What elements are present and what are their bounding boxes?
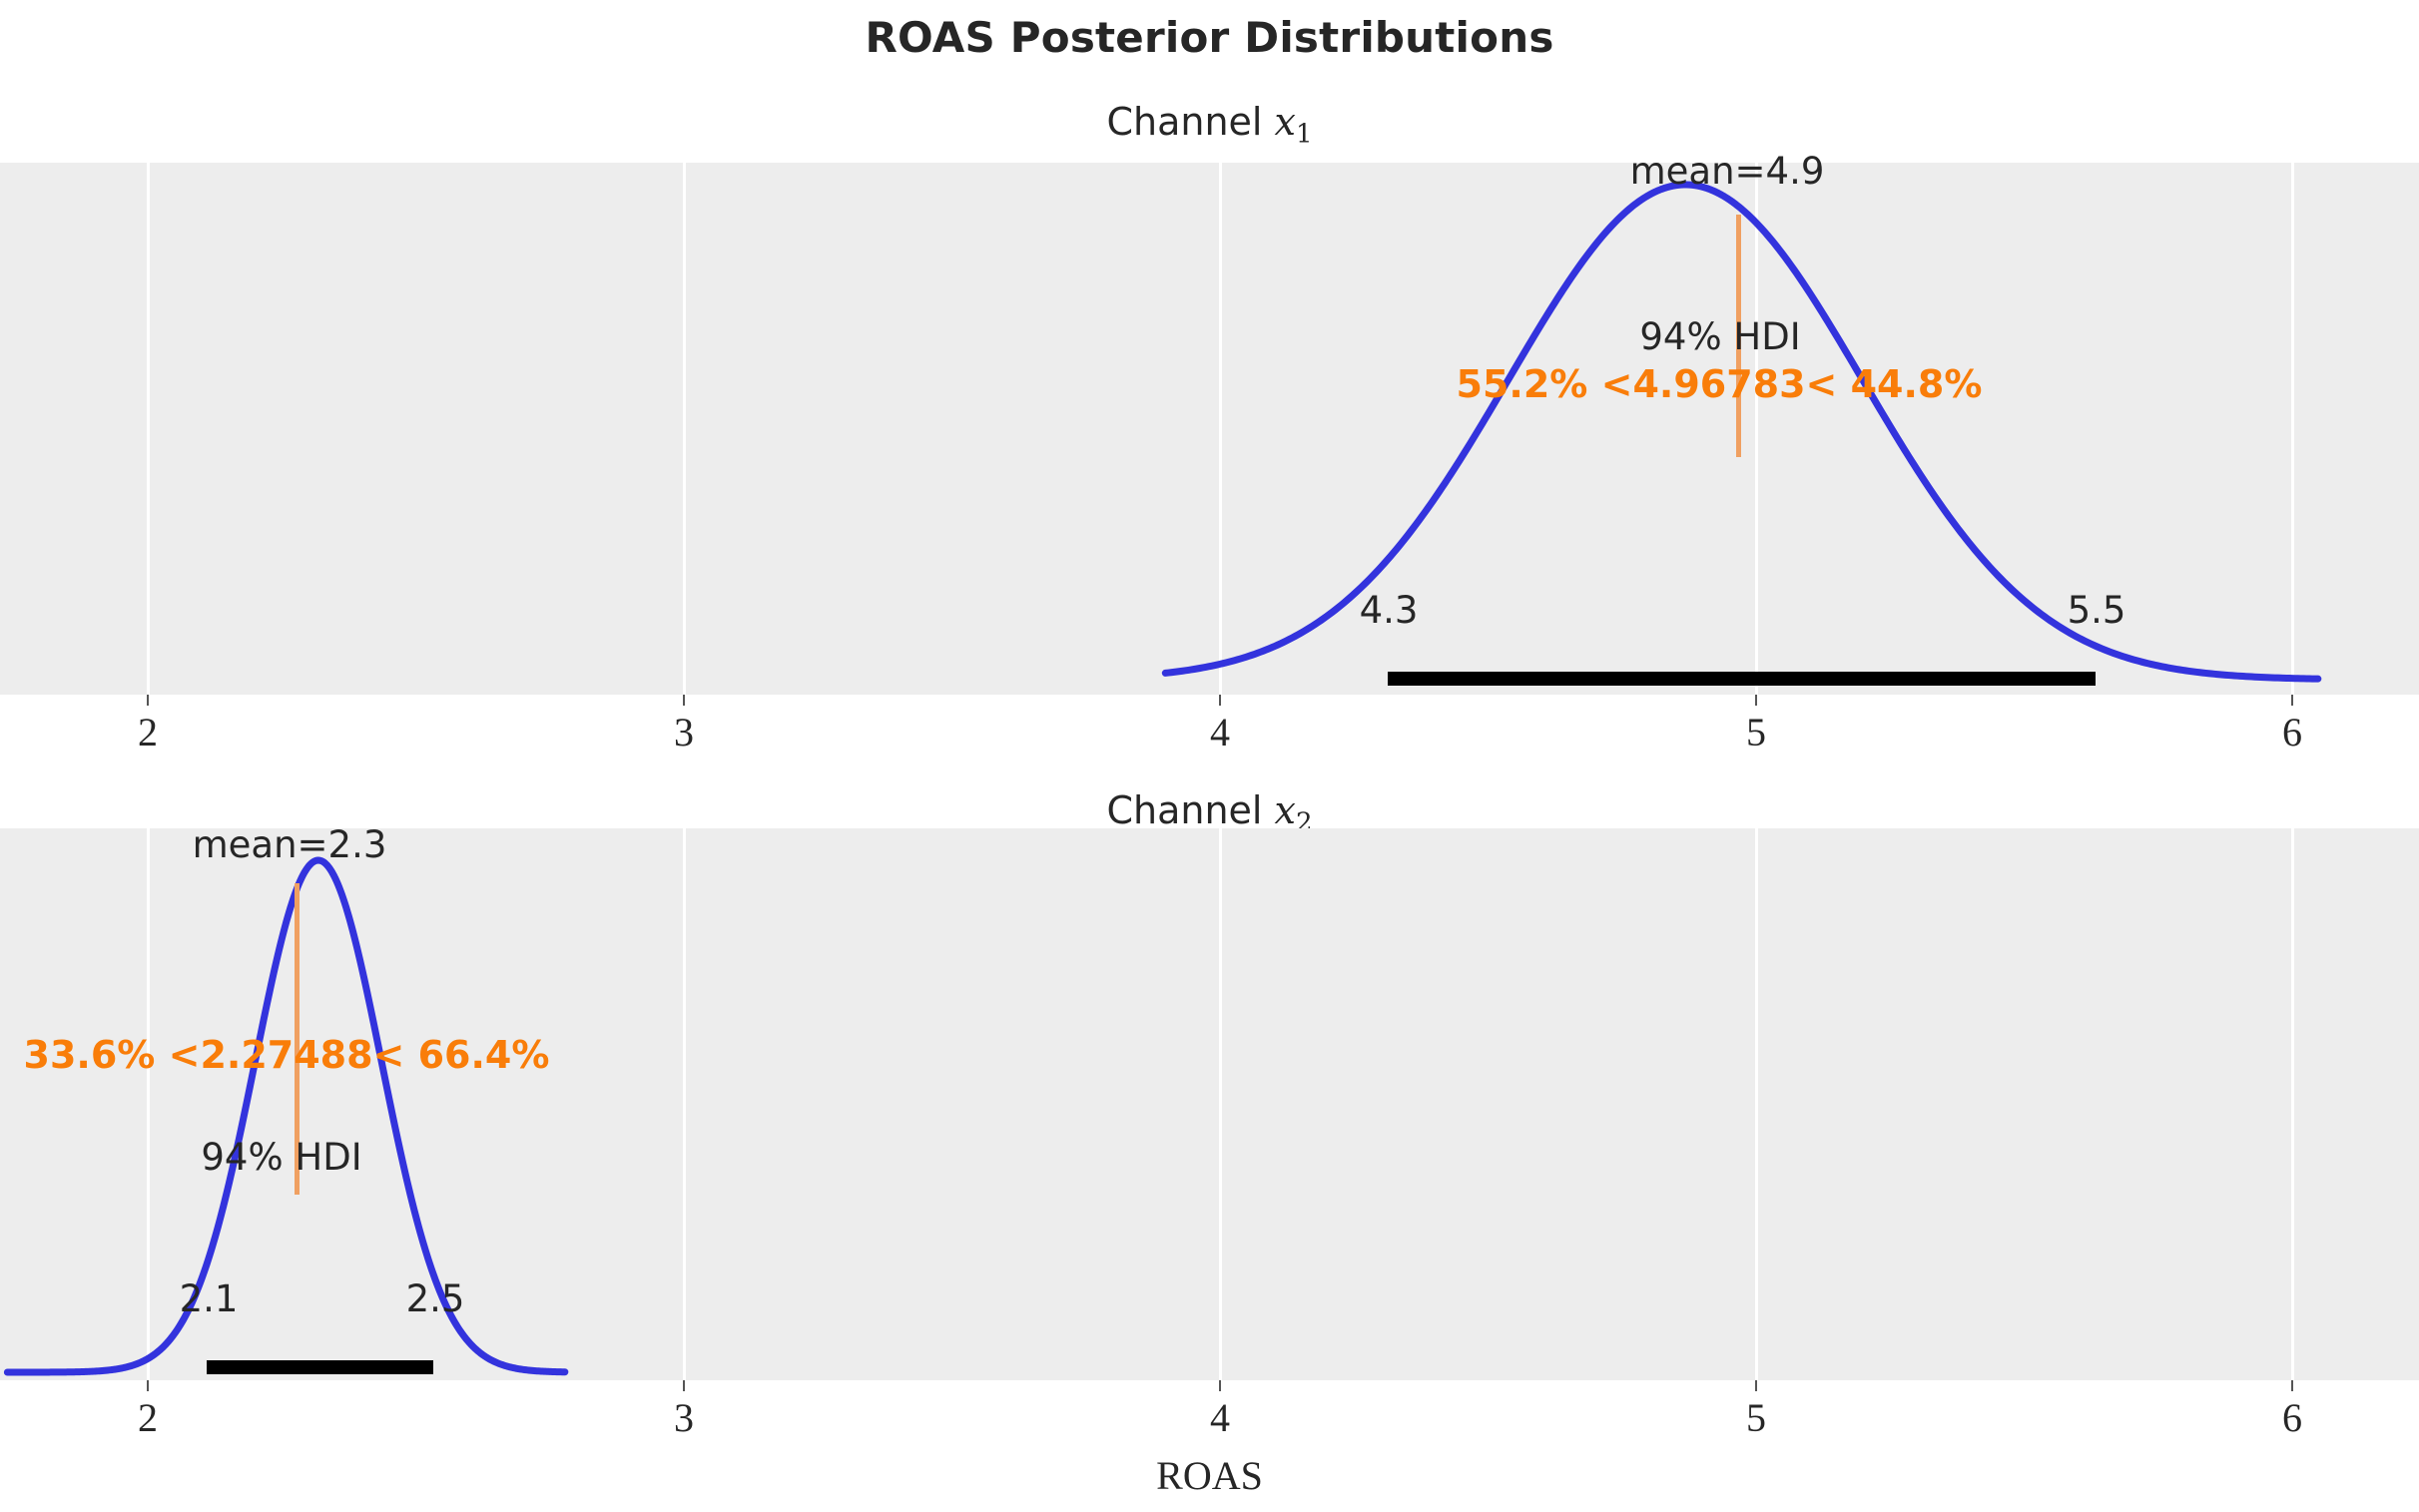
tick-mark2-3	[683, 1380, 685, 1391]
hdi-low-label-x2: 2.1	[180, 1277, 239, 1320]
hdi-bar-x2	[207, 1360, 433, 1374]
panel-1-clip	[0, 163, 2419, 695]
subplot-title-1-subscript: 1	[1296, 119, 1313, 149]
tick-mark-3	[683, 695, 685, 706]
subplot-title-2-prefix: Channel	[1106, 788, 1274, 832]
mean-label-x1: mean=4.9	[1630, 150, 1825, 193]
tick-mark2-5	[1755, 1380, 1757, 1391]
hdi-bar-x1	[1388, 672, 2096, 686]
tick-label-4: 4	[1210, 709, 1230, 756]
tick-label2-3: 3	[674, 1394, 694, 1441]
hdi-low-label-x1: 4.3	[1360, 589, 1419, 632]
posterior-density-curve-x2	[0, 828, 2419, 1380]
tick-label-2: 2	[138, 709, 158, 756]
percent-annotation-x1: 55.2% <4.96783< 44.8%	[1457, 362, 1983, 406]
tick-label2-6: 6	[2282, 1394, 2302, 1441]
tick-label-6: 6	[2282, 709, 2302, 756]
plot-panel-channel-x1: mean=4.9 55.2% <4.96783< 44.8% 94% HDI 4…	[0, 163, 2419, 695]
hdi-high-label-x2: 2.5	[406, 1277, 465, 1320]
x-axis-top: 2 3 4 5 6	[0, 695, 2419, 784]
tick-label2-2: 2	[138, 1394, 158, 1441]
posterior-density-curve-x1	[0, 163, 2419, 695]
x-axis-label: ROAS	[0, 1452, 2419, 1499]
subplot-title-1-variable: x	[1275, 100, 1296, 144]
tick-mark-6	[2291, 695, 2293, 706]
subplot-title-2-variable: x	[1275, 788, 1296, 832]
tick-label-3: 3	[674, 709, 694, 756]
tick-mark2-2	[147, 1380, 149, 1391]
tick-mark-2	[147, 695, 149, 706]
plot-panel-channel-x2: mean=2.3 33.6% <2.27488< 66.4% 94% HDI 2…	[0, 828, 2419, 1380]
tick-label2-5: 5	[1746, 1394, 1766, 1441]
subplot-title-channel-x1: Channel x1	[0, 100, 2419, 149]
tick-mark-5	[1755, 695, 1757, 706]
percent-annotation-x2: 33.6% <2.27488< 66.4%	[24, 1033, 550, 1077]
hdi-label-x2: 94% HDI	[201, 1136, 361, 1179]
hdi-high-label-x1: 5.5	[2068, 589, 2126, 632]
panel-2-clip	[0, 828, 2419, 1380]
tick-mark2-6	[2291, 1380, 2293, 1391]
hdi-label-x1: 94% HDI	[1639, 315, 1800, 358]
tick-mark-4	[1219, 695, 1221, 706]
tick-label-5: 5	[1746, 709, 1766, 756]
tick-mark2-4	[1219, 1380, 1221, 1391]
tick-label2-4: 4	[1210, 1394, 1230, 1441]
mean-label-x2: mean=2.3	[193, 823, 387, 866]
figure-title: ROAS Posterior Distributions	[0, 13, 2419, 62]
subplot-title-1-prefix: Channel	[1106, 100, 1274, 144]
